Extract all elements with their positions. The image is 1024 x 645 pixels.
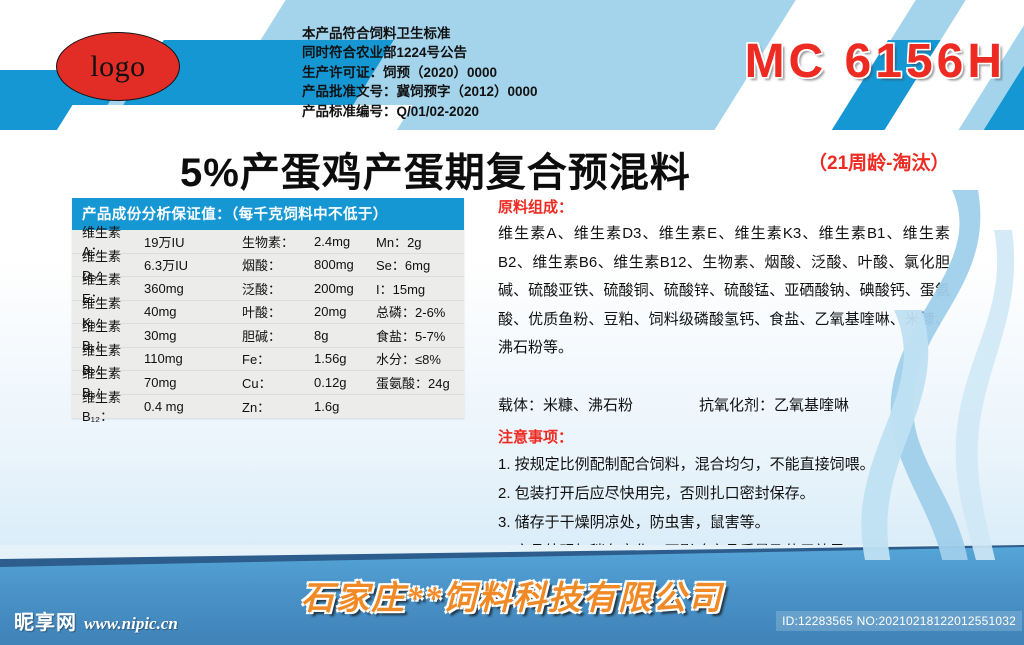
poster-header: logo 本产品符合饲料卫生标准 同时符合农业部1224号公告 生产许可证：饲预… — [0, 0, 1024, 130]
list-item: 1. 按规定比例配制配合饲料，混合均匀，不能直接饲喂。 — [498, 450, 958, 479]
list-item: 3. 储存于干燥阴凉处，防虫害，鼠害等。 — [498, 508, 958, 537]
nutrient-spec-table-body: 维生素 A： 19万IU 生物素： 2.4mg Mn：2g 维生素 D₃： 6.… — [72, 230, 464, 418]
cell-nutrient-name-2: 泛酸： — [242, 279, 314, 298]
cell-nutrient-value: 360mg — [144, 281, 242, 296]
poster-body: 5%产蛋鸡产蛋期复合预混料 （21周龄-淘汰） 产品成份分析保证值：（每千克饲料… — [0, 130, 1024, 560]
carrier-antioxidant-line: 载体：米糠、沸石粉抗氧化剂：乙氧基喹啉 — [498, 394, 950, 415]
cell-mineral: 蛋氨酸：24g — [376, 373, 464, 392]
notes-list: 1. 按规定比例配制配合饲料，混合均匀，不能直接饲喂。 2. 包装打开后应尽快用… — [498, 450, 958, 560]
cell-nutrient-name-2: 胆碱： — [242, 326, 314, 345]
cell-mineral: Mn：2g — [376, 232, 464, 251]
certification-block: 本产品符合饲料卫生标准 同时符合农业部1224号公告 生产许可证：饲预（2020… — [302, 24, 538, 121]
watermark-site-name: 昵享网 — [14, 606, 77, 635]
cert-line-5: 产品标准编号：Q/01/02-2020 — [302, 102, 538, 121]
antioxidant-label: 抗氧化剂：乙氧基喹啉 — [699, 397, 849, 414]
cell-nutrient-value: 19万IU — [144, 232, 242, 251]
cell-nutrient-name-2: 生物素： — [242, 232, 314, 251]
cell-nutrient-value: 30mg — [144, 328, 242, 343]
nutrient-spec-table: 产品成份分析保证值：（每千克饲料中不低于） 维生素 A： 19万IU 生物素： … — [72, 198, 464, 418]
cell-nutrient-value-2: 20mg — [314, 304, 376, 319]
cell-nutrient-value-2: 8g — [314, 328, 376, 343]
cell-nutrient-value-2: 1.6g — [314, 399, 376, 414]
ingredients-text: 维生素A、维生素D3、维生素E、维生素K3、维生素B1、维生素B2、维生素B6、… — [498, 220, 950, 363]
cert-line-1: 本产品符合饲料卫生标准 — [302, 24, 538, 43]
cell-nutrient-value-2: 2.4mg — [314, 234, 376, 249]
cert-line-4: 产品批准文号：冀饲预字（2012）0000 — [302, 82, 538, 101]
list-item: 2. 包装打开后应尽快用完，否则扎口密封保存。 — [498, 479, 958, 508]
cell-nutrient-name-2: Zn： — [242, 397, 314, 416]
cell-nutrient-value: 40mg — [144, 304, 242, 319]
table-row: 维生素 B₁₂： 0.4 mg Zn： 1.6g — [72, 395, 464, 419]
cell-nutrient-name-2: Cu： — [242, 373, 314, 392]
asset-id-badge: ID:12283565 NO:20210218122012551032 — [776, 611, 1022, 631]
cell-nutrient-value-2: 1.56g — [314, 351, 376, 366]
cell-nutrient-value: 0.4 mg — [144, 399, 242, 414]
cell-nutrient-value-2: 800mg — [314, 257, 376, 272]
age-range-tag: （21周龄-淘汰） — [808, 148, 949, 175]
cell-nutrient-value-2: 0.12g — [314, 375, 376, 390]
cell-mineral: 食盐：5-7% — [376, 326, 464, 345]
ingredients-heading: 原料组成： — [498, 196, 573, 217]
cell-mineral: I：15mg — [376, 279, 464, 298]
cell-nutrient-value: 6.3万IU — [144, 255, 242, 274]
cell-mineral: Se：6mg — [376, 255, 464, 274]
cell-nutrient-name: 维生素 B₁₂： — [82, 387, 144, 425]
product-code: MC 6156H — [745, 34, 1006, 89]
cell-nutrient-name-2: 烟酸： — [242, 255, 314, 274]
carrier-label: 载体：米糠、沸石粉 — [498, 397, 633, 414]
cert-line-2: 同时符合农业部1224号公告 — [302, 43, 538, 62]
brand-logo: logo — [56, 32, 180, 101]
page-title: 5%产蛋鸡产蛋期复合预混料 — [180, 140, 691, 198]
product-label-poster: logo 本产品符合饲料卫生标准 同时符合农业部1224号公告 生产许可证：饲预… — [0, 0, 1024, 645]
notes-heading: 注意事项： — [498, 426, 573, 447]
cell-nutrient-name-2: Fe： — [242, 349, 314, 368]
cell-nutrient-value-2: 200mg — [314, 281, 376, 296]
site-watermark: 昵享网 www.nipic.cn — [14, 606, 178, 635]
brand-logo-text: logo — [90, 50, 145, 84]
cell-nutrient-value: 110mg — [144, 351, 242, 366]
cell-mineral: 水分：≤8% — [376, 349, 464, 368]
cert-line-3: 生产许可证：饲预（2020）0000 — [302, 63, 538, 82]
cell-nutrient-value: 70mg — [144, 375, 242, 390]
cell-mineral: 总磷：2-6% — [376, 302, 464, 321]
title-row: 5%产蛋鸡产蛋期复合预混料 （21周龄-淘汰） — [0, 138, 1024, 190]
cell-nutrient-name-2: 叶酸： — [242, 302, 314, 321]
watermark-site-url: www.nipic.cn — [84, 614, 178, 634]
